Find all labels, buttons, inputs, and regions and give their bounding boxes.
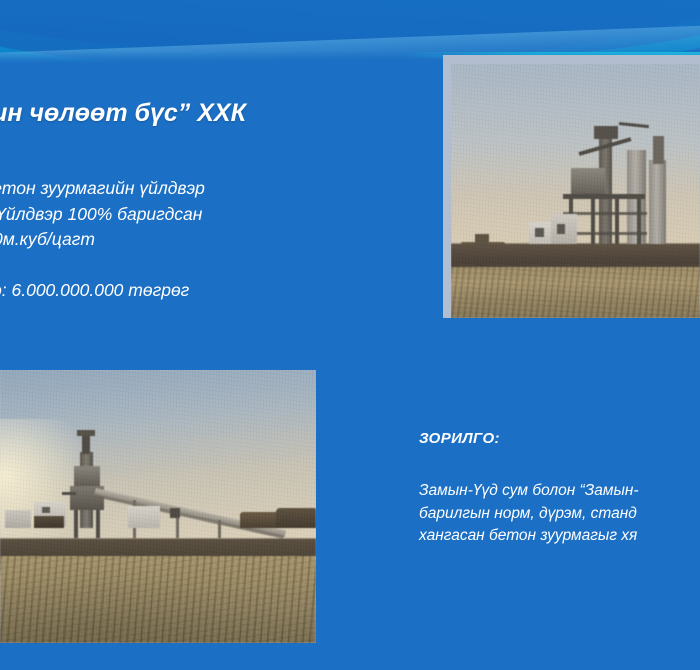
presentation-slide: ракшин чөлөөт бүс” ХХК чиглэл: Бетон зуу… (0, 0, 700, 670)
bullet-line-progress: тын явц: Үйлдвэр 100% баригдсан (0, 202, 386, 228)
photo-bottom-image (0, 370, 316, 643)
bullet-line-jobs: 40 (0, 253, 386, 279)
slide-title: ракшин чөлөөт бүс” ХХК (0, 96, 358, 130)
bullet-line-investment: ын хэмжээ: 6.000.000.000 төгрөг (0, 278, 386, 304)
photo-top-image (451, 64, 700, 318)
photo-bottom-grain (0, 370, 316, 643)
photo-top-grain (451, 64, 700, 318)
goal-line-3: хангасан бетон зуурмагыг хя (419, 525, 700, 548)
slide-header-banner (0, 0, 700, 62)
slide-bullet-list: чиглэл: Бетон зуурмагийн үйлдвэр тын явц… (0, 176, 386, 304)
goal-line-2: барилгын норм, дүрэм, станд (419, 503, 700, 526)
goal-heading: ЗОРИЛГО: (419, 430, 500, 447)
bullet-line-activity: чиглэл: Бетон зуурмагийн үйлдвэр (0, 176, 386, 202)
goal-body-text: Замын-Үүд сум болон “Замын- барилгын нор… (419, 480, 700, 548)
bullet-line-capacity: чадал: 180м.куб/цагт (0, 227, 386, 253)
concrete-plant-photo-bottom (0, 370, 316, 643)
concrete-plant-photo-top (443, 55, 700, 318)
goal-line-1: Замын-Үүд сум болон “Замын- (419, 480, 700, 503)
